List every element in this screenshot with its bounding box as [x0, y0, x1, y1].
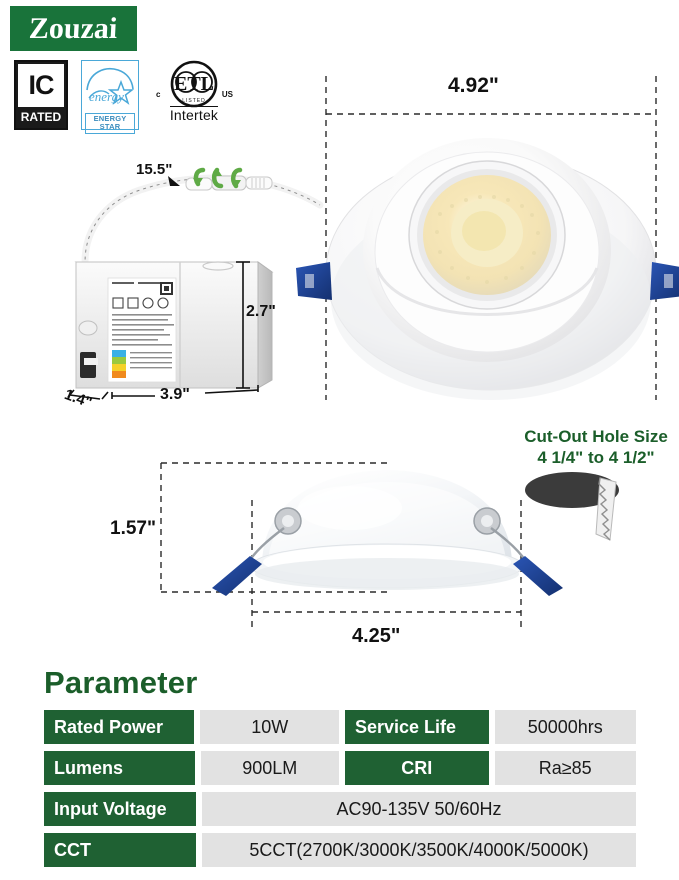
- param-label-service-life: Service Life: [345, 710, 489, 744]
- param-label-rated-power: Rated Power: [44, 710, 194, 744]
- table-row: Rated Power 10W Service Life 50000hrs: [44, 710, 636, 744]
- diagram-illustration: [0, 0, 679, 660]
- dimension-fixture-body-diameter: 4.25": [352, 625, 400, 648]
- dimension-junction-box-height: 2.7": [246, 303, 276, 321]
- param-value-rated-power: 10W: [200, 710, 339, 744]
- product-diagram: 15.5" 4.92" 2.7" 3.9" 1.4" 1.57" 4.25" C…: [0, 0, 679, 660]
- cutout-title: Cut-Out Hole Size: [512, 426, 679, 447]
- param-label-cri: CRI: [345, 751, 488, 785]
- cutout-range: 4 1/4" to 4 1/2": [512, 447, 679, 468]
- parameter-table: Rated Power 10W Service Life 50000hrs Lu…: [44, 710, 636, 874]
- param-value-lumens: 900LM: [201, 751, 340, 785]
- cutout-hole-note: Cut-Out Hole Size 4 1/4" to 4 1/2": [512, 426, 679, 469]
- dimension-cable-length: 15.5": [136, 161, 172, 178]
- dimension-junction-box-length: 3.9": [160, 386, 190, 404]
- table-row: Lumens 900LM CRI Ra≥85: [44, 751, 636, 785]
- param-value-service-life: 50000hrs: [495, 710, 636, 744]
- param-label-input-voltage: Input Voltage: [44, 792, 196, 826]
- parameter-title: Parameter: [44, 665, 197, 701]
- param-label-lumens: Lumens: [44, 751, 195, 785]
- param-value-cct: 5CCT(2700K/3000K/3500K/4000K/5000K): [202, 833, 636, 867]
- dimension-fixture-diameter: 4.92": [448, 74, 499, 98]
- param-value-input-voltage: AC90-135V 50/60Hz: [202, 792, 636, 826]
- dimension-fixture-height: 1.57": [110, 518, 156, 540]
- param-value-cri: Ra≥85: [495, 751, 637, 785]
- table-row: CCT 5CCT(2700K/3000K/3500K/4000K/5000K): [44, 833, 636, 867]
- table-row: Input Voltage AC90-135V 50/60Hz: [44, 792, 636, 826]
- hole-saw-icon: [525, 472, 619, 540]
- param-label-cct: CCT: [44, 833, 196, 867]
